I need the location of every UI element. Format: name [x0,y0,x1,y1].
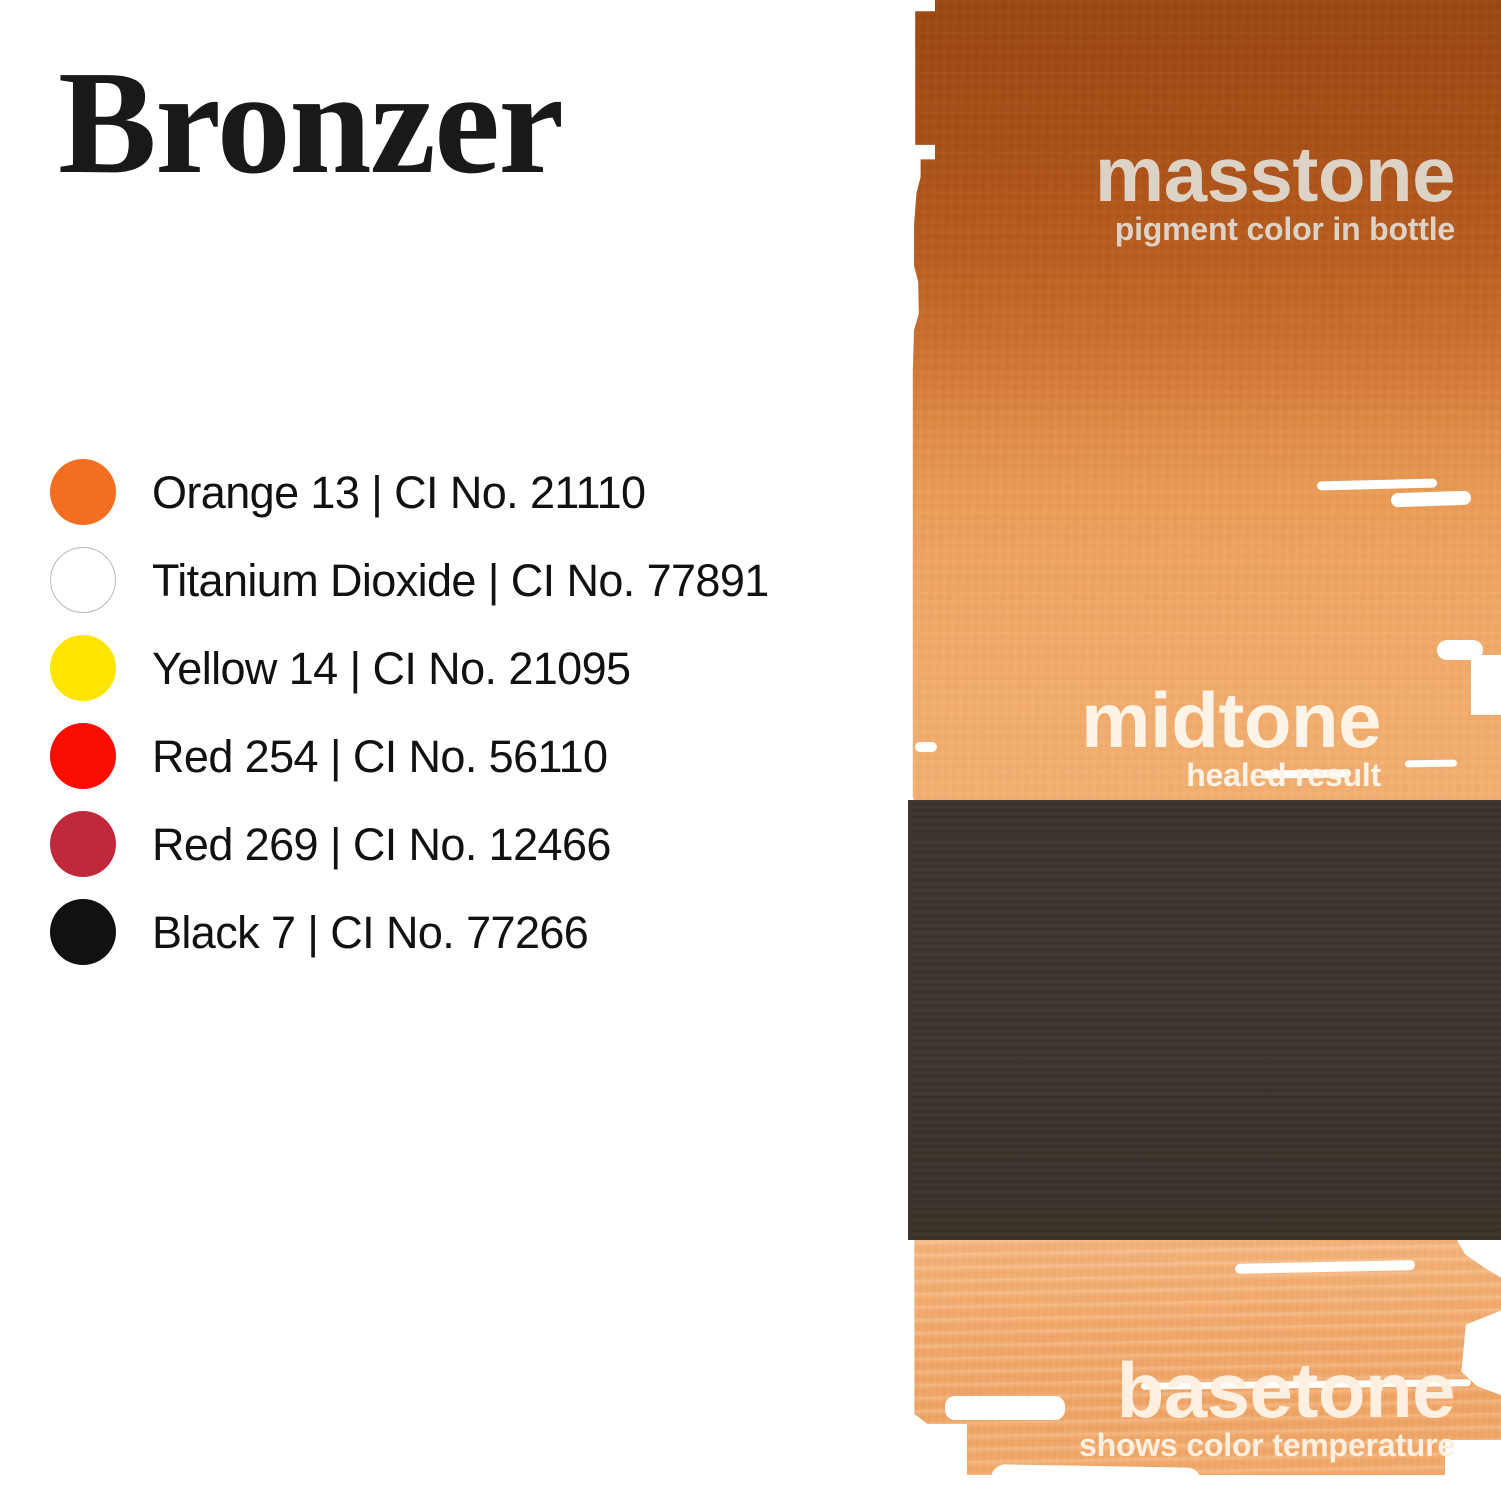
basetone-brush-grain [908,1240,1501,1475]
pigment-row: Yellow 14 | CI No. 21095 [50,624,870,712]
yellow-swatch [50,635,116,701]
pigment-row: Black 7 | CI No. 77266 [50,888,870,976]
pigment-label: Orange 13 | CI No. 21110 [152,470,645,515]
pigment-label: Red 269 | CI No. 12466 [152,822,611,867]
pigment-row: Red 254 | CI No. 56110 [50,712,870,800]
basetone-paint-stroke [908,1240,1501,1475]
pigment-label: Yellow 14 | CI No. 21095 [152,646,630,691]
black-swatch [50,899,116,965]
page-title: Bronzer [58,36,563,211]
pigment-row: Titanium Dioxide | CI No. 77891 [50,536,870,624]
contrast-dark-block [908,800,1501,1240]
red-254-swatch [50,723,116,789]
titanium-dioxide-swatch [50,547,116,613]
pigment-card: Bronzer Orange 13 | CI No. 21110Titanium… [0,0,1501,1501]
pigment-label: Titanium Dioxide | CI No. 77891 [152,558,769,603]
masstone-paint-stroke [908,0,1501,805]
pigment-label: Black 7 | CI No. 77266 [152,910,588,955]
swatch-panel: masstone pigment color in bottle midtone… [905,0,1501,1501]
pigment-row: Red 269 | CI No. 12466 [50,800,870,888]
left-panel: Bronzer Orange 13 | CI No. 21110Titanium… [0,0,905,1501]
pigment-list: Orange 13 | CI No. 21110Titanium Dioxide… [50,448,870,976]
masstone-brush-grain [908,0,1501,805]
pigment-label: Red 254 | CI No. 56110 [152,734,607,779]
pigment-row: Orange 13 | CI No. 21110 [50,448,870,536]
red-269-swatch [50,811,116,877]
orange-swatch [50,459,116,525]
